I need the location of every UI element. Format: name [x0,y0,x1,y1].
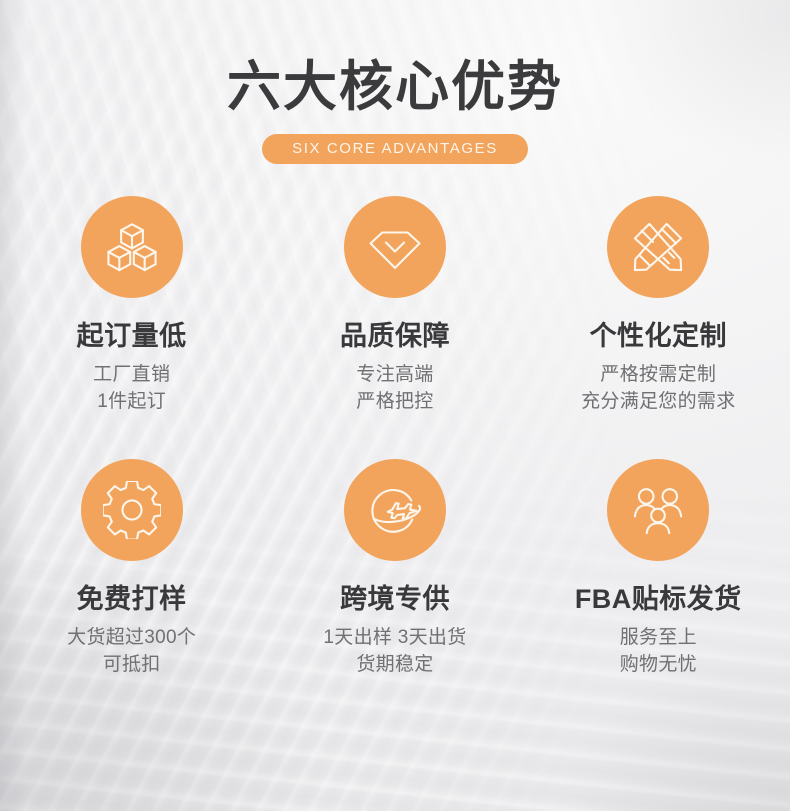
header: 六大核心优势 SIX CORE ADVANTAGES [0,56,790,164]
advantage-card-3: 个性化定制 严格按需定制 充分满足您的需求 [527,196,790,415]
advantage-description: 工厂直销 1件起订 [93,361,170,415]
advantage-description: 大货超过300个 可抵扣 [67,624,196,678]
advantage-description: 服务至上 购物无忧 [620,624,697,678]
globe-airplane-icon [344,459,446,561]
advantages-grid: 起订量低 工厂直销 1件起订 品质保障 专注高端 [0,196,790,678]
advantage-line: 严格把控 [356,388,433,415]
advantage-line: 可抵扣 [67,651,196,678]
promo-banner: 六大核心优势 SIX CORE ADVANTAGES [0,0,790,811]
diamond-gem-icon [344,196,446,298]
advantage-card-5: 跨境专供 1天出样 3天出货 货期稳定 [263,459,526,678]
advantage-title: 免费打样 [77,583,187,615]
advantage-description: 严格按需定制 充分满足您的需求 [581,361,735,415]
advantage-line: 服务至上 [620,624,697,651]
three-people-icon [607,459,709,561]
advantage-line: 货期稳定 [323,651,466,678]
advantage-card-4: 免费打样 大货超过300个 可抵扣 [0,459,263,678]
advantage-description: 1天出样 3天出货 货期稳定 [323,624,466,678]
advantage-line: 专注高端 [356,361,433,388]
advantage-card-6: FBA贴标发货 服务至上 购物无忧 [527,459,790,678]
advantage-card-2: 品质保障 专注高端 严格把控 [263,196,526,415]
advantage-line: 充分满足您的需求 [581,388,735,415]
advantage-line: 严格按需定制 [581,361,735,388]
advantage-title: FBA贴标发货 [575,583,742,615]
advantage-line: 大货超过300个 [67,624,196,651]
advantage-title: 个性化定制 [590,320,728,352]
advantage-title: 品质保障 [340,320,450,352]
advantage-title: 起订量低 [77,320,187,352]
advantages-row-1: 起订量低 工厂直销 1件起订 品质保障 专注高端 [0,196,790,415]
advantages-row-2: 免费打样 大货超过300个 可抵扣 跨境专供 [0,459,790,678]
gear-icon [81,459,183,561]
advantage-description: 专注高端 严格把控 [356,361,433,415]
page-title: 六大核心优势 [0,56,790,118]
advantage-line: 购物无忧 [620,651,697,678]
advantage-line: 1天出样 3天出货 [323,624,466,651]
stacked-boxes-icon [81,196,183,298]
advantage-card-1: 起订量低 工厂直销 1件起订 [0,196,263,415]
advantage-line: 1件起订 [93,388,170,415]
subtitle-badge: SIX CORE ADVANTAGES [262,134,528,164]
pencil-ruler-icon [607,196,709,298]
advantage-title: 跨境专供 [340,583,450,615]
advantage-line: 工厂直销 [93,361,170,388]
